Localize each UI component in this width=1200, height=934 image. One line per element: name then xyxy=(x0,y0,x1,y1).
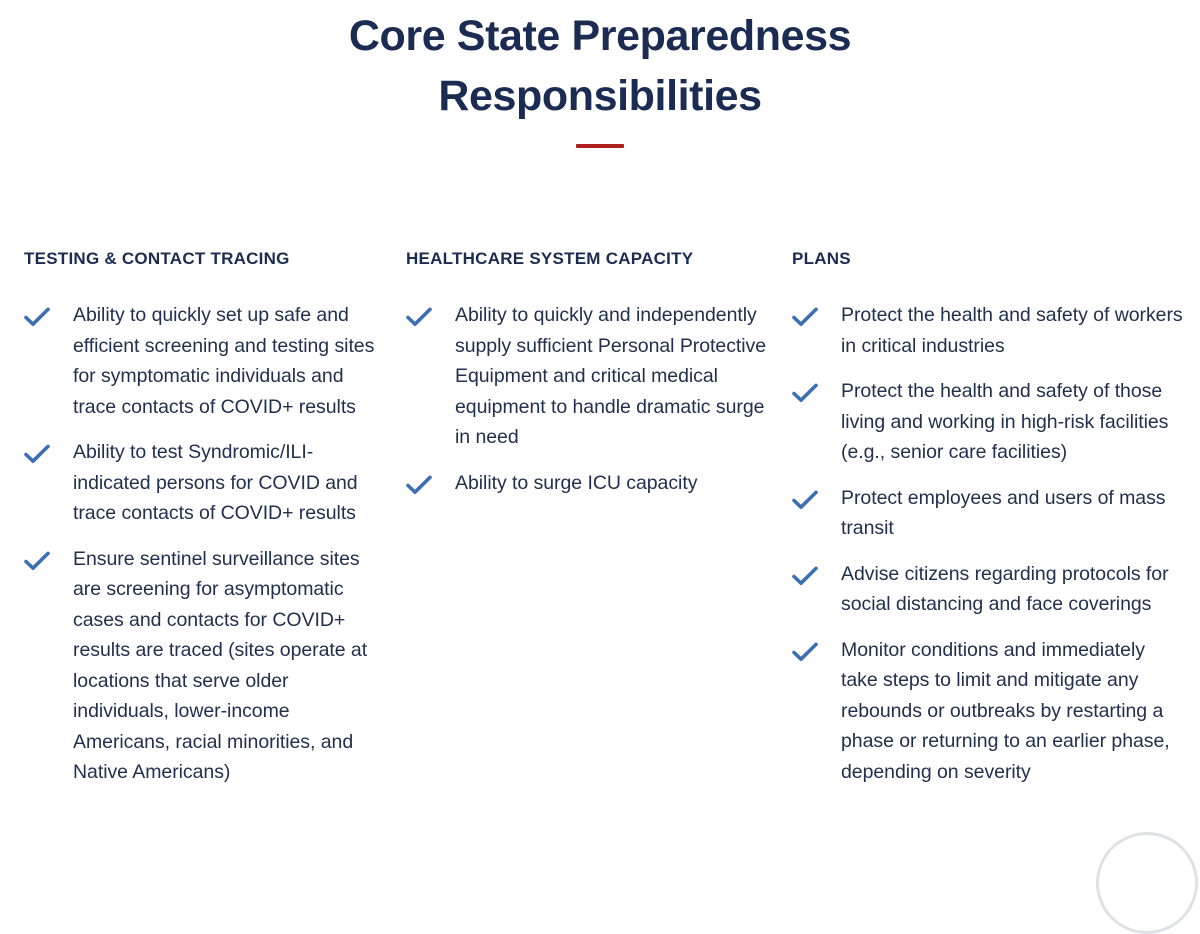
list-item-text: Ability to test Syndromic/ILI-indicated … xyxy=(73,437,383,529)
list-item: Ability to quickly set up safe and effic… xyxy=(24,300,383,422)
list-item: Protect employees and users of mass tran… xyxy=(792,483,1186,544)
corner-arc-artifact xyxy=(1096,832,1198,934)
list-item-text: Ensure sentinel surveillance sites are s… xyxy=(73,544,383,788)
slide-page: Core State Preparedness Responsibilities… xyxy=(0,0,1200,890)
column-testing-contact-tracing: TESTING & CONTACT TRACING Ability to qui… xyxy=(0,248,391,788)
list-item: Protect the health and safety of those l… xyxy=(792,376,1186,468)
column-item-list: Ability to quickly and independently sup… xyxy=(406,300,771,498)
list-item-text: Protect the health and safety of those l… xyxy=(841,376,1186,468)
title-divider-rule xyxy=(576,144,624,148)
list-item-text: Advise citizens regarding protocols for … xyxy=(841,559,1186,620)
column-item-list: Protect the health and safety of workers… xyxy=(792,300,1186,787)
title-block: Core State Preparedness Responsibilities xyxy=(0,6,1200,148)
check-icon xyxy=(792,300,820,327)
column-heading: HEALTHCARE SYSTEM CAPACITY xyxy=(406,248,771,270)
list-item: Ability to quickly and independently sup… xyxy=(406,300,771,453)
check-icon xyxy=(24,300,52,327)
check-icon xyxy=(406,468,434,495)
check-icon xyxy=(24,544,52,571)
list-item-text: Protect the health and safety of workers… xyxy=(841,300,1186,361)
list-item-text: Ability to surge ICU capacity xyxy=(455,468,771,499)
check-icon xyxy=(792,635,820,662)
list-item-text: Ability to quickly and independently sup… xyxy=(455,300,771,453)
check-icon xyxy=(792,376,820,403)
column-healthcare-system-capacity: HEALTHCARE SYSTEM CAPACITY Ability to qu… xyxy=(391,248,779,498)
check-icon xyxy=(792,483,820,510)
column-item-list: Ability to quickly set up safe and effic… xyxy=(24,300,383,788)
list-item: Protect the health and safety of workers… xyxy=(792,300,1186,361)
list-item: Monitor conditions and immediately take … xyxy=(792,635,1186,788)
column-heading: PLANS xyxy=(792,248,1186,270)
check-icon xyxy=(24,437,52,464)
check-icon xyxy=(406,300,434,327)
list-item: Ability to surge ICU capacity xyxy=(406,468,771,499)
list-item: Ensure sentinel surveillance sites are s… xyxy=(24,544,383,788)
list-item-text: Ability to quickly set up safe and effic… xyxy=(73,300,383,422)
list-item: Advise citizens regarding protocols for … xyxy=(792,559,1186,620)
check-icon xyxy=(792,559,820,586)
list-item: Ability to test Syndromic/ILI-indicated … xyxy=(24,437,383,529)
page-title: Core State Preparedness Responsibilities xyxy=(0,6,1200,126)
column-heading: TESTING & CONTACT TRACING xyxy=(24,248,383,270)
responsibility-columns: TESTING & CONTACT TRACING Ability to qui… xyxy=(0,248,1200,788)
list-item-text: Monitor conditions and immediately take … xyxy=(841,635,1186,788)
column-plans: PLANS Protect the health and safety of w… xyxy=(779,248,1200,787)
list-item-text: Protect employees and users of mass tran… xyxy=(841,483,1186,544)
